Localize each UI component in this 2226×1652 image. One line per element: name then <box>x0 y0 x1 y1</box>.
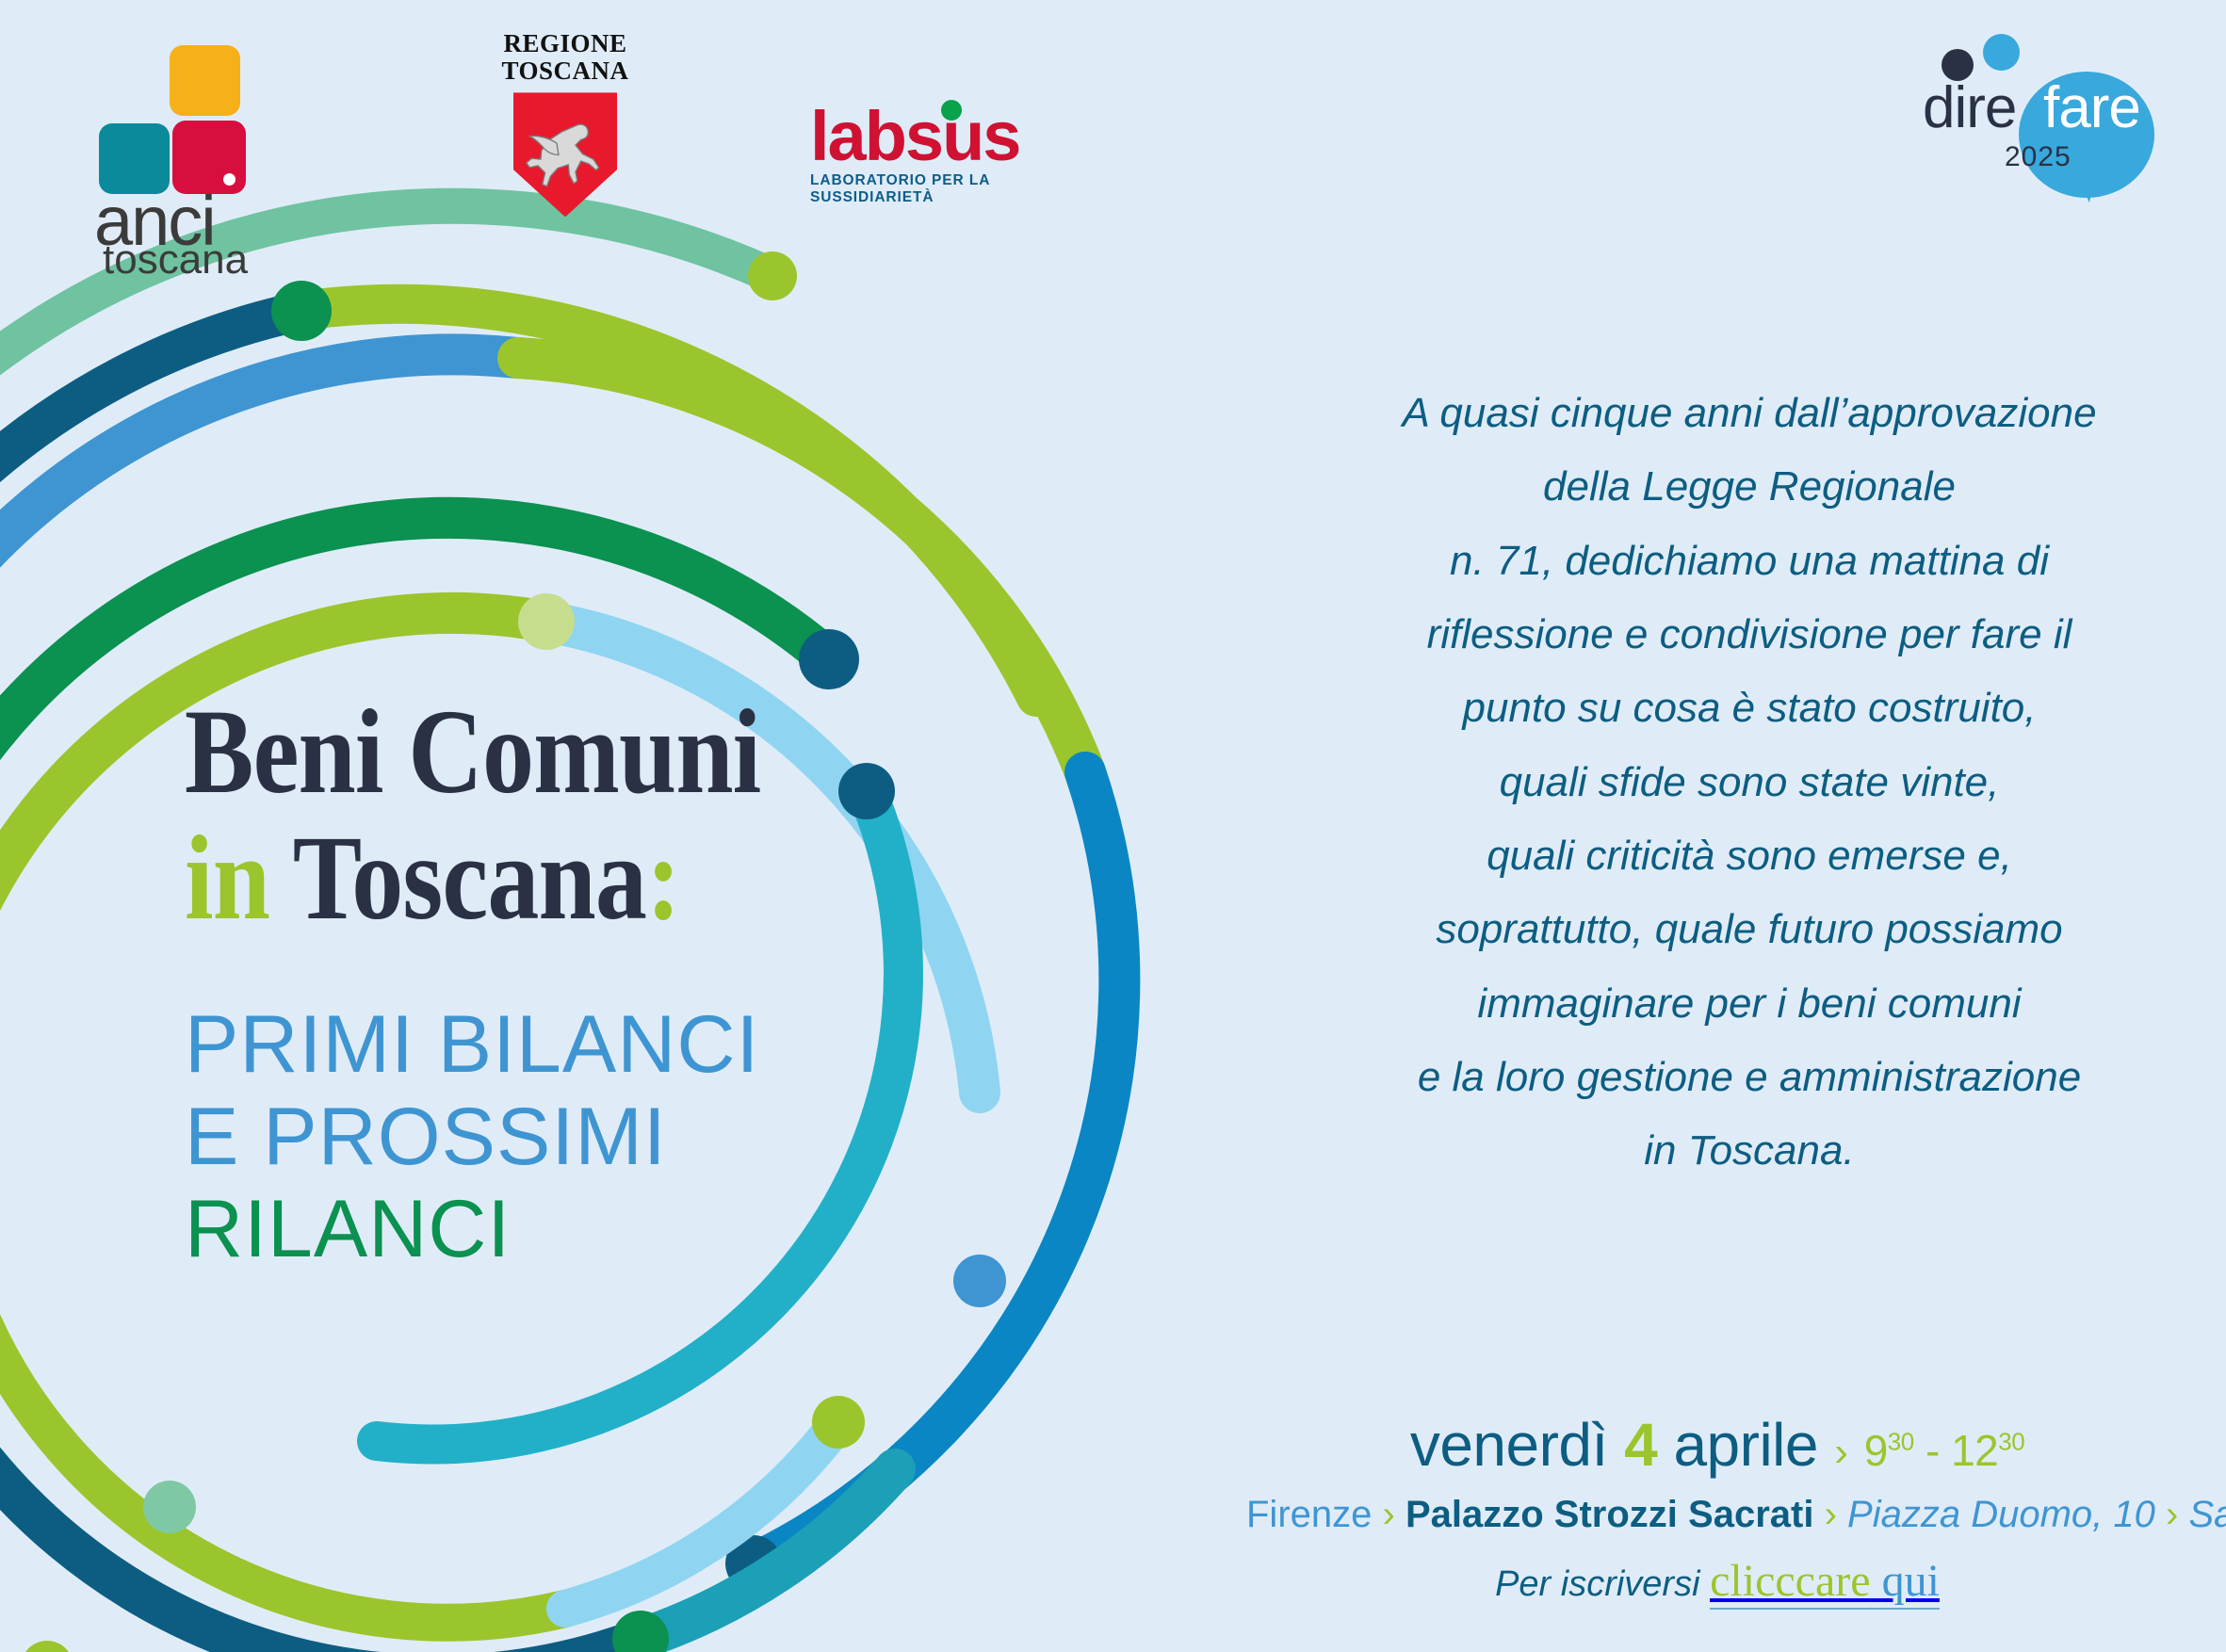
subtitle-line-1: PRIMI BILANCI <box>185 998 1032 1091</box>
fare-word: fare <box>2043 79 2140 138</box>
labsus-logo: labsus LABORATORIO PER LA SUSSIDIARIETÀ <box>810 104 1064 206</box>
dire-e-fare-logo: dire e fare 2025 <box>1915 26 2160 186</box>
description-line: immaginare per i beni comuni <box>1325 967 2173 1041</box>
regione-toscana-logo: REGIONE TOSCANA <box>476 30 655 237</box>
event-time-start-min: 30 <box>1888 1427 1914 1455</box>
event-details: venerdì 4 aprile › 930 - 1230 Firenze › … <box>1246 1414 2188 1607</box>
poster-title: Beni Comuni in Toscana: <box>185 697 1240 934</box>
labsus-green-dot <box>941 100 962 121</box>
poster-subtitle: PRIMI BILANCI E PROSSIMI RILANCI <box>185 998 1032 1275</box>
chevron-right-icon: › <box>1383 1494 1395 1535</box>
title-colon: : <box>646 811 680 945</box>
event-time-start-hour: 9 <box>1864 1426 1888 1475</box>
event-room: Sala Esposizioni <box>2188 1494 2226 1535</box>
event-time-dash: - <box>1925 1426 1940 1475</box>
event-weekday: venerdì <box>1410 1411 1608 1479</box>
description-text: A quasi cinque anni dall’approvazione de… <box>1325 377 2173 1188</box>
title-line-1: Beni Comuni <box>185 697 1092 808</box>
registration-link-word-1: clicccare <box>1710 1556 1870 1606</box>
event-venue: Palazzo Strozzi Sacrati <box>1405 1494 1813 1535</box>
chevron-right-icon: › <box>2166 1494 2178 1535</box>
chevron-right-icon: › <box>1825 1494 1837 1535</box>
event-address: Piazza Duomo, 10 <box>1847 1494 2155 1535</box>
subtitle-line-2: E PROSSIMI <box>185 1091 1032 1183</box>
regione-toscana-line2: TOSCANA <box>476 57 655 85</box>
dire-e-word: e <box>2021 105 2037 134</box>
registration-prefix: Per iscriversi <box>1495 1564 1699 1604</box>
labsus-tagline: LABORATORIO PER LA SUSSIDIARIETÀ <box>810 172 1064 206</box>
event-month: aprile <box>1673 1411 1818 1479</box>
dire-dot-blue <box>1983 34 2020 71</box>
title-line-2: in Toscana: <box>185 823 1092 934</box>
event-time: 930 - 1230 <box>1864 1426 2025 1475</box>
poster-root: anci toscana REGIONE TOSCANA labsus LABO… <box>0 0 2226 1652</box>
chevron-right-icon: › <box>1834 1429 1847 1475</box>
logo-bar: anci toscana REGIONE TOSCANA labsus LABO… <box>0 0 2226 273</box>
description-line: A quasi cinque anni dall’approvazione <box>1325 377 2173 450</box>
event-location-line: Firenze › Palazzo Strozzi Sacrati › Piaz… <box>1246 1494 2188 1536</box>
anci-toscana-logo: anci toscana <box>99 45 316 248</box>
event-date-line: venerdì 4 aprile › 930 - 1230 <box>1246 1414 2188 1477</box>
tuscany-shield <box>513 92 617 217</box>
description-line: punto su cosa è stato costruito, <box>1325 672 2173 745</box>
description-line: quali criticità sono emerse e, <box>1325 819 2173 893</box>
title-word-in: in <box>185 811 269 945</box>
labsus-wordmark: labsus <box>810 104 1019 170</box>
registration-link-word-2: qui <box>1882 1556 1940 1606</box>
registration-link[interactable]: clicccare qui <box>1710 1556 1940 1610</box>
event-time-end-min: 30 <box>1998 1427 2024 1455</box>
description-line: soprattutto, quale futuro possiamo <box>1325 893 2173 966</box>
event-time-end-hour: 12 <box>1951 1426 1998 1475</box>
labsus-wordmark-text: labsus <box>810 97 1019 175</box>
pegasus-icon <box>521 109 610 199</box>
description-line: e la loro gestione e amministrazione <box>1325 1041 2173 1114</box>
description-line: della Legge Regionale <box>1325 450 2173 524</box>
subtitle-line-3: RILANCI <box>185 1183 1032 1275</box>
dire-word: dire <box>1923 79 2016 138</box>
regione-toscana-line1: REGIONE <box>476 30 655 57</box>
registration-line: Per iscriversi clicccare qui <box>1246 1555 2188 1607</box>
description-line: n. 71, dedichiamo una mattina di <box>1325 525 2173 598</box>
dire-e-fare-year: 2025 <box>2005 141 2072 173</box>
title-word-toscana: Toscana <box>293 811 646 945</box>
event-city: Firenze <box>1246 1494 1372 1535</box>
anci-subword: toscana <box>103 239 248 281</box>
description-line: in Toscana. <box>1325 1114 2173 1188</box>
description-line: quali sfide sono state vinte, <box>1325 746 2173 819</box>
anci-dot <box>223 173 236 186</box>
anci-square-yellow <box>170 45 240 116</box>
event-day: 4 <box>1624 1411 1657 1479</box>
description-line: riflessione e condivisione per fare il <box>1325 598 2173 672</box>
